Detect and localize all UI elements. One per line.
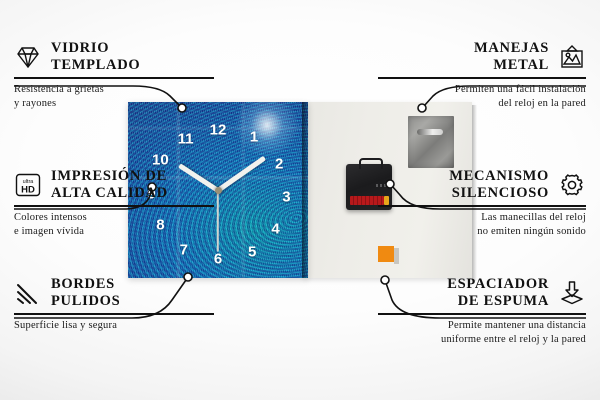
callout-sub-line2: del reloj en la pared (378, 97, 586, 111)
ultra-hd-icon: ultra HD (14, 172, 42, 198)
callout-rule (14, 313, 214, 315)
callout-title-line1: IMPRESIÓN DE (51, 168, 168, 185)
callout-rule (14, 205, 214, 207)
callout-title-line1: MECANISMO (449, 168, 549, 185)
clock-numeral-12: 12 (210, 122, 227, 139)
clock-numeral-11: 11 (178, 130, 194, 147)
callout-title-line1: VIDRIO (51, 40, 140, 57)
callout-sub-line1: Resistencia a grietas (14, 83, 214, 97)
callout-title-line2: DE ESPUMA (447, 293, 549, 310)
callout-sub-line1: Permite mantener una distancia (378, 319, 586, 333)
callout-manejas-metal: MANEJAS METAL Permiten una fácil instala… (378, 40, 586, 111)
picture-frame-hanger-icon (558, 44, 586, 70)
callout-rule (378, 205, 586, 207)
callout-rule (14, 77, 214, 79)
clock-numeral-2: 2 (275, 155, 283, 172)
callout-rule (378, 313, 586, 315)
clock-highlight (232, 102, 302, 155)
clock-second-hand (217, 190, 219, 252)
callout-title-line2: PULIDOS (51, 293, 120, 310)
diamond-icon (14, 44, 42, 70)
clock-numeral-10: 10 (152, 152, 169, 169)
callout-sub-line2: no emiten ningún sonido (378, 225, 586, 239)
callout-title-line2: METAL (474, 57, 549, 74)
callout-sub-line1: Superficie lisa y segura (14, 319, 214, 333)
down-arrow-layers-icon (558, 280, 586, 306)
clock-numeral-4: 4 (271, 220, 279, 237)
foam-spacer (378, 246, 394, 262)
clock-numeral-1: 1 (250, 129, 258, 146)
infographic-canvas: 12 1 2 3 4 5 6 7 8 9 10 11 (0, 0, 600, 400)
metal-hanger-plate (408, 116, 454, 168)
callout-sub-line2: uniforme entre el reloj y la pared (378, 333, 586, 347)
callout-title-line2: TEMPLADO (51, 57, 140, 74)
callout-title-line1: BORDES (51, 276, 120, 293)
callout-rule (378, 77, 586, 79)
callout-sub-line2: y rayones (14, 97, 214, 111)
callout-title-line2: ALTA CALIDAD (51, 185, 168, 202)
callout-sub-line1: Permiten una fácil instalación (378, 83, 586, 97)
callout-title-line1: MANEJAS (474, 40, 549, 57)
svg-text:HD: HD (21, 185, 35, 196)
callout-sub-line1: Las manecillas del reloj (378, 211, 586, 225)
clock-numeral-5: 5 (248, 243, 256, 260)
callout-mecanismo-silencioso: MECANISMO SILENCIOSO Las manecillas del … (378, 168, 586, 239)
clock-numeral-3: 3 (282, 189, 290, 206)
foam-spacer-shadow (394, 248, 399, 264)
callout-espaciador-espuma: ESPACIADOR DE ESPUMA Permite mantener un… (378, 276, 586, 347)
clock-center-cap (215, 187, 222, 194)
gear-icon (558, 172, 586, 198)
clock-numeral-7: 7 (180, 241, 188, 258)
diagonal-lines-icon (14, 280, 42, 306)
callout-title-line1: ESPACIADOR (447, 276, 549, 293)
callout-sub-line1: Colores intensos (14, 211, 214, 225)
callout-vidrio-templado: VIDRIO TEMPLADO Resistencia a grietas y … (14, 40, 214, 111)
callout-sub-line2: e imagen vívida (14, 225, 214, 239)
callout-impresion-alta-calidad: ultra HD IMPRESIÓN DE ALTA CALIDAD Color… (14, 168, 214, 239)
callout-bordes-pulidos: BORDES PULIDOS Superficie lisa y segura (14, 276, 214, 333)
hanger-slot (417, 129, 443, 135)
callout-title-line2: SILENCIOSO (449, 185, 549, 202)
clock-glass-edge (302, 102, 308, 278)
clock-numeral-6: 6 (214, 250, 222, 267)
